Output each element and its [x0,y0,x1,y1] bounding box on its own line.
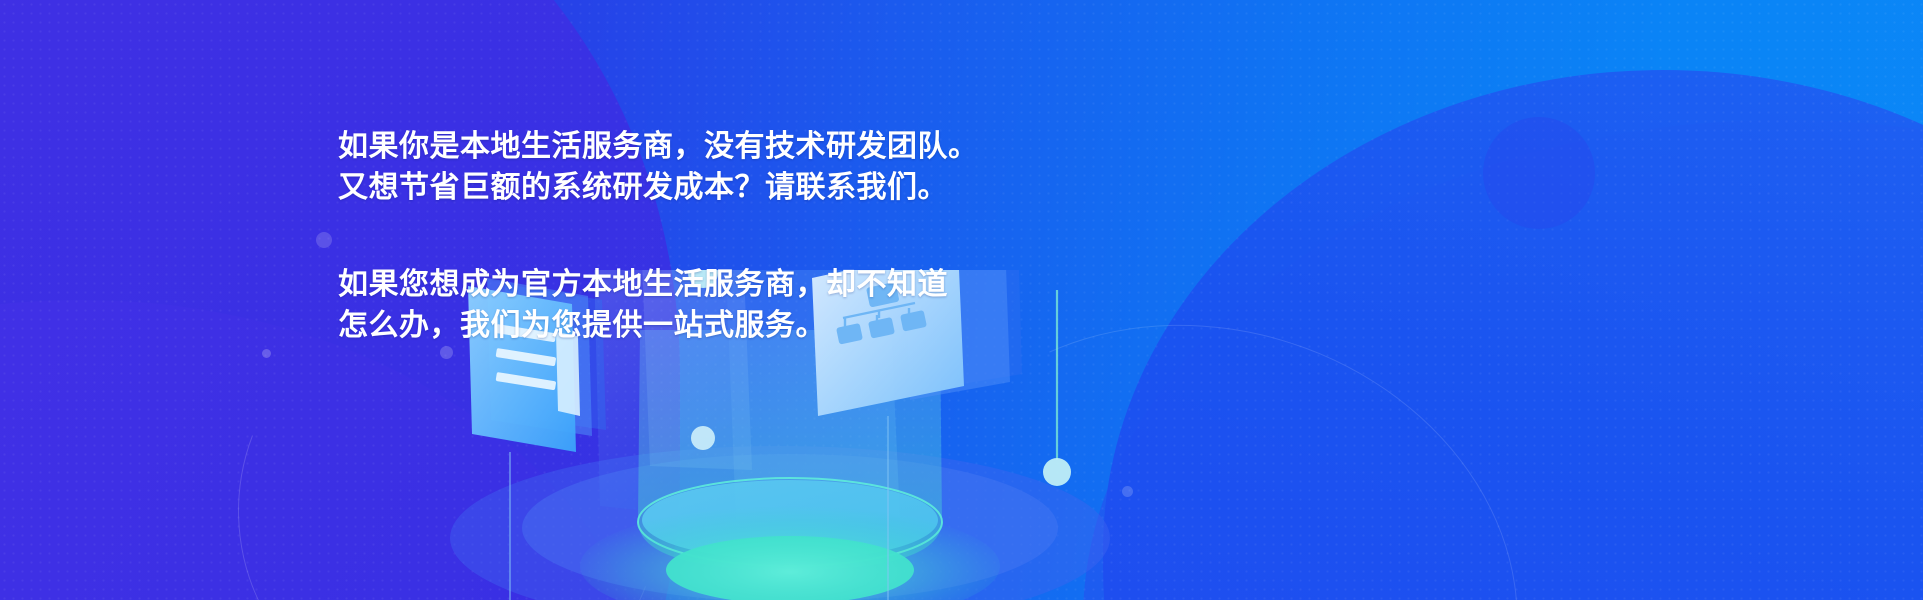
headline-line-4: 怎么办，我们为您提供一站式服务。 [338,305,979,346]
headline-line-2: 又想节省巨额的系统研发成本？请联系我们。 [338,167,979,208]
pin-marker-right [1043,290,1071,486]
decorative-circle-right [1483,117,1595,229]
floating-sphere [691,426,715,450]
paragraph-2: 如果您想成为官方本地生活服务商，却不知道 怎么办，我们为您提供一站式服务。 [338,264,979,346]
headline-line-1: 如果你是本地生活服务商，没有技术研发团队。 [338,126,979,167]
promo-banner: 如果你是本地生活服务商，没有技术研发团队。 又想节省巨额的系统研发成本？请联系我… [0,0,1923,600]
headline-line-3: 如果您想成为官方本地生活服务商，却不知道 [338,264,979,305]
headline-copy: 如果你是本地生活服务商，没有技术研发团队。 又想节省巨额的系统研发成本？请联系我… [338,126,979,346]
paragraph-1: 如果你是本地生活服务商，没有技术研发团队。 又想节省巨额的系统研发成本？请联系我… [338,126,979,208]
decorative-dot-1 [316,232,332,248]
